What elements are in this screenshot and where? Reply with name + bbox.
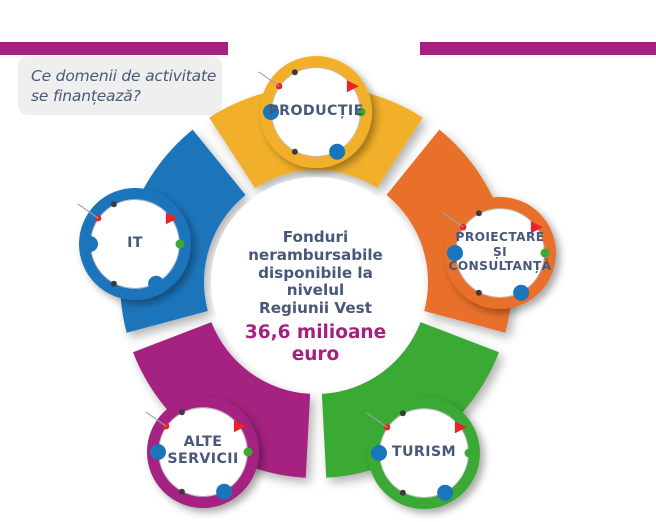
badge-face-productie <box>272 68 360 156</box>
marker-dot-lower-right-alte-servicii <box>216 484 232 500</box>
marker-tick-dark-a-alte-servicii <box>179 409 185 415</box>
badge-turism[interactable] <box>367 403 474 503</box>
badge-face-proiectare <box>456 209 544 297</box>
marker-dot-lower-right-turism <box>437 485 453 501</box>
marker-dot-left-proiectare <box>447 245 463 261</box>
marker-tick-dark-b-proiectare <box>476 290 482 296</box>
badge-productie[interactable] <box>259 62 366 162</box>
marker-dot-green-turism <box>465 449 474 458</box>
badge-it[interactable] <box>78 194 185 294</box>
marker-tick-dark-b-alte-servicii <box>179 489 185 495</box>
badge-face-alte-servicii <box>159 408 247 496</box>
center-amount: 36,6 milioaneeuro <box>228 322 403 365</box>
marker-dot-left-turism <box>371 445 387 461</box>
marker-dot-lower-right-it <box>148 276 164 292</box>
marker-tick-dark-b-it <box>111 281 117 287</box>
marker-dot-green-proiectare <box>541 249 550 258</box>
marker-tick-dark-b-productie <box>292 149 298 155</box>
center-amount-line: 36,6 milioane <box>228 322 403 344</box>
marker-tick-dark-a-proiectare <box>476 210 482 216</box>
center-amount-line: euro <box>228 344 403 366</box>
marker-dot-left-productie <box>263 104 279 120</box>
marker-tick-dark-a-productie <box>292 69 298 75</box>
marker-dot-green-alte-servicii <box>244 448 253 457</box>
center-description-line: nerambursabile <box>228 247 403 265</box>
badge-face-turism <box>380 409 468 497</box>
badge-face-it <box>91 200 179 288</box>
marker-tick-dark-b-turism <box>400 490 406 496</box>
marker-dot-green-productie <box>357 108 366 117</box>
marker-dot-lower-right-proiectare <box>513 285 529 301</box>
marker-dot-left-it <box>82 236 98 252</box>
center-description-line: disponibile la nivelul <box>228 265 403 301</box>
marker-dot-left-alte-servicii <box>150 444 166 460</box>
infographic-canvas: Ce domenii de activitate se finanțează? … <box>0 0 656 522</box>
marker-tick-dark-a-it <box>111 201 117 207</box>
center-description-line: Fonduri <box>228 229 403 247</box>
marker-dot-lower-right-productie <box>329 144 345 160</box>
badge-proiectare[interactable] <box>443 203 550 303</box>
marker-tick-dark-a-turism <box>400 410 406 416</box>
badge-alte-servicii[interactable] <box>146 402 253 502</box>
center-description: Fondurinerambursabiledisponibile la nive… <box>228 229 403 318</box>
center-description-line: Regiunii Vest <box>228 300 403 318</box>
marker-dot-green-it <box>176 240 185 249</box>
marker-dot-red-it <box>95 215 101 221</box>
